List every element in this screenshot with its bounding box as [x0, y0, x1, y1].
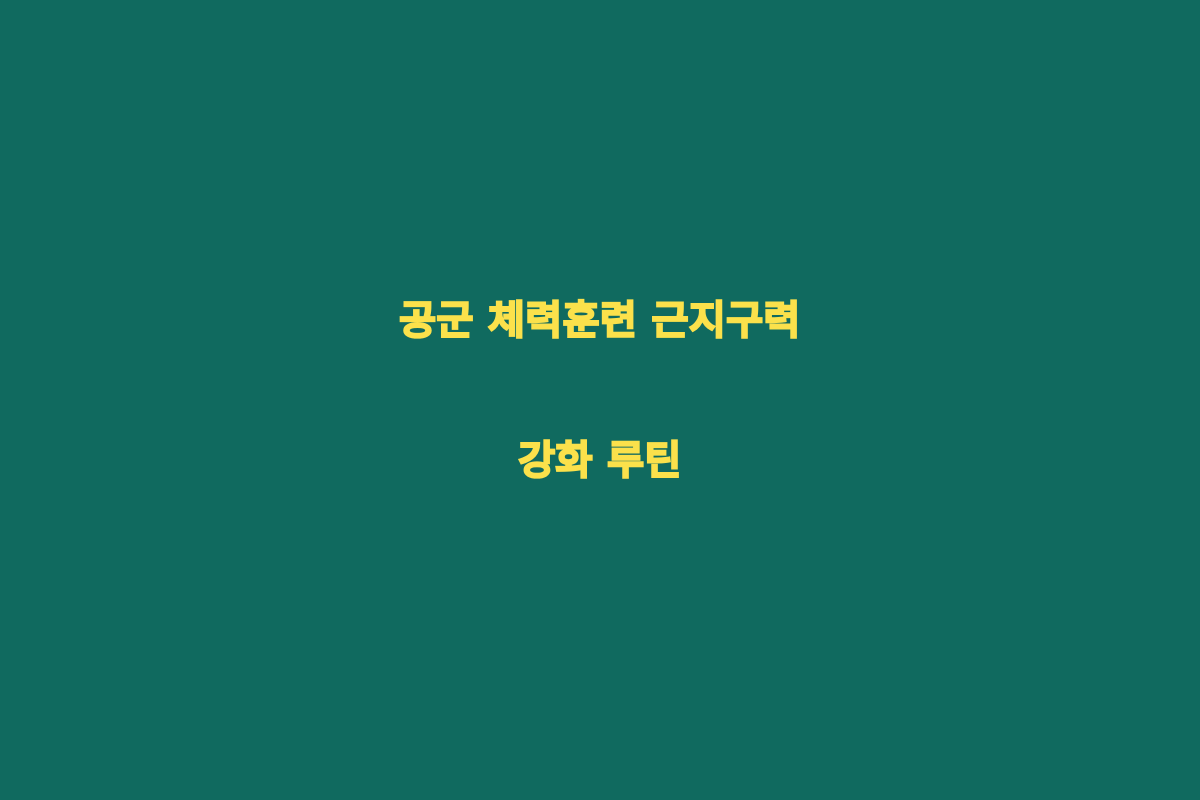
title-line-1: 공군 체력훈련 근지구력: [50, 251, 1150, 391]
title-line-2: 강화 루틴: [50, 391, 1150, 531]
title-card: 공군 체력훈련 근지구력 강화 루틴: [0, 0, 1200, 800]
title-text-block: 공군 체력훈련 근지구력 강화 루틴: [50, 251, 1150, 531]
